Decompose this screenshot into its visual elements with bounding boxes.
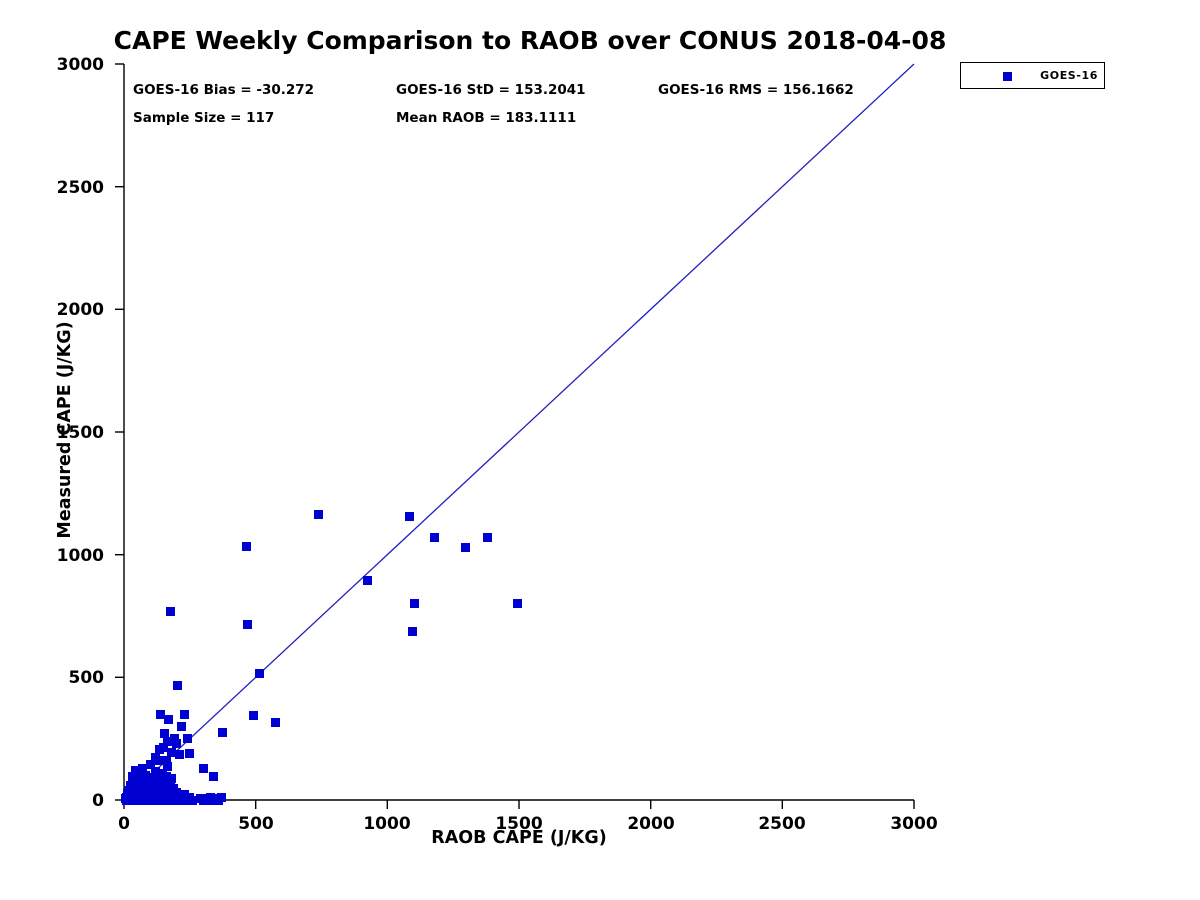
scatter-point: [167, 774, 176, 783]
scatter-point: [209, 772, 218, 781]
chart-legend[interactable]: GOES-16: [960, 62, 1105, 89]
scatter-point: [164, 715, 173, 724]
scatter-point: [166, 607, 175, 616]
scatter-point: [199, 764, 208, 773]
scatter-point: [410, 599, 419, 608]
scatter-point: [183, 734, 192, 743]
scatter-point: [314, 510, 323, 519]
scatter-point: [217, 793, 226, 802]
scatter-point: [243, 620, 252, 629]
scatter-point: [430, 533, 439, 542]
scatter-point: [363, 576, 372, 585]
y-axis-title: Measured CAPE (J/KG): [55, 62, 75, 798]
scatter-point: [242, 542, 251, 551]
scatter-point: [177, 722, 186, 731]
scatter-point: [175, 750, 184, 759]
x-axis-ticks: [124, 800, 914, 809]
y-axis-ticks: [115, 64, 124, 800]
chart-figure: CAPE Weekly Comparison to RAOB over CONU…: [0, 0, 1200, 900]
plot-area: [124, 64, 914, 800]
scatter-point: [513, 599, 522, 608]
scatter-point: [255, 669, 264, 678]
scatter-point: [461, 543, 470, 552]
scatter-point: [180, 710, 189, 719]
scatter-point: [249, 711, 258, 720]
scatter-point: [271, 718, 280, 727]
scatter-point: [185, 749, 194, 758]
legend-label-goes-16: GOES-16: [961, 69, 1098, 82]
x-axis-title: RAOB CAPE (J/KG): [124, 828, 914, 848]
scatter-point: [162, 756, 171, 765]
scatter-point: [172, 739, 181, 748]
scatter-point: [173, 681, 182, 690]
scatter-point: [405, 512, 414, 521]
scatter-point: [483, 533, 492, 542]
scatter-point: [408, 627, 417, 636]
scatter-point: [218, 728, 227, 737]
